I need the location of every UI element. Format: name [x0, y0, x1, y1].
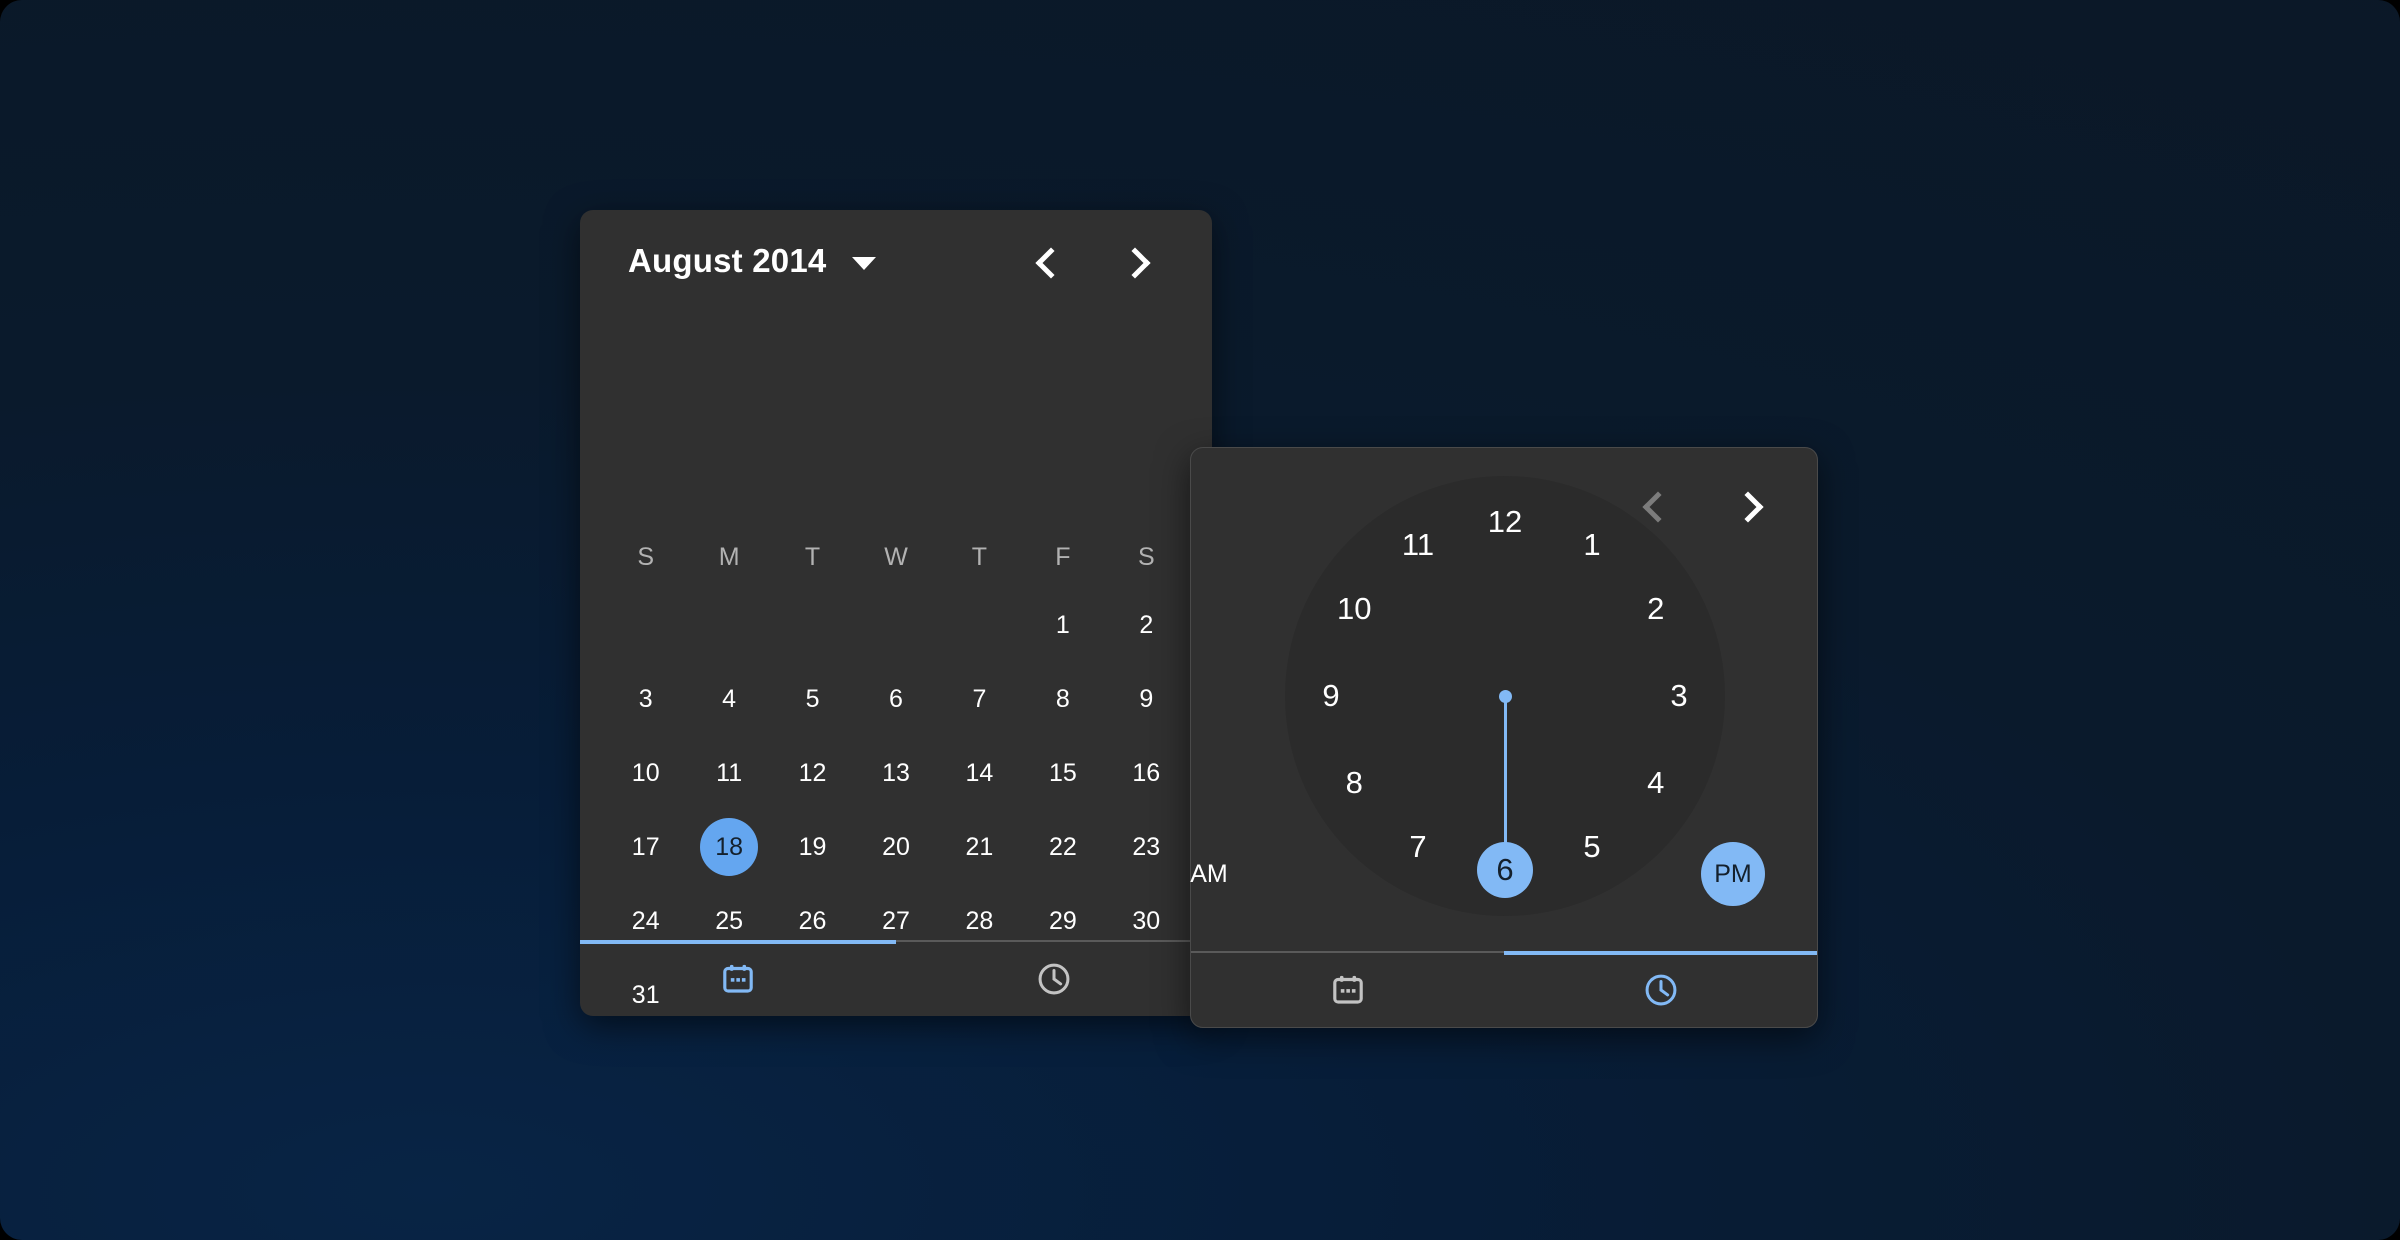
calendar-day-1[interactable]: 1 [1021, 588, 1104, 662]
month-navigation [1030, 244, 1156, 278]
calendar-day-label: 29 [1049, 907, 1077, 936]
meridiem-pm-option[interactable]: PM [1701, 842, 1765, 906]
calendar-day-label: 8 [1056, 685, 1070, 714]
calendar-day-label: 1 [1056, 611, 1070, 640]
calendar-icon [1330, 972, 1366, 1008]
month-year-selector[interactable]: August 2014 [628, 242, 876, 280]
tab-date[interactable] [1191, 953, 1504, 1027]
previous-month-button[interactable] [1030, 244, 1064, 278]
calendar-day-22[interactable]: 22 [1021, 810, 1104, 884]
date-picker-header: August 2014 [580, 210, 1212, 312]
calendar-day-empty [771, 588, 854, 662]
clock-hour-8[interactable]: 8 [1326, 755, 1382, 811]
calendar-day-label: 12 [799, 759, 827, 788]
clock-icon [1642, 971, 1680, 1009]
time-navigation [1637, 488, 1769, 522]
calendar-day-16[interactable]: 16 [1105, 736, 1188, 810]
page-title: August 2014 [628, 242, 826, 280]
clock-hour-5[interactable]: 5 [1564, 819, 1620, 875]
time-picker-tabbar [1191, 951, 1817, 1027]
calendar-week-row: 10111213141516 [604, 736, 1188, 810]
calendar-day-3[interactable]: 3 [604, 662, 687, 736]
calendar-icon [720, 961, 756, 997]
calendar-day-empty [854, 588, 937, 662]
clock-hour-7[interactable]: 7 [1390, 819, 1446, 875]
calendar-day-15[interactable]: 15 [1021, 736, 1104, 810]
calendar-day-label: 18 [715, 833, 743, 862]
calendar-day-label: 5 [806, 685, 820, 714]
calendar-day-label: 4 [722, 685, 736, 714]
previous-time-button[interactable] [1637, 488, 1671, 522]
calendar-day-17[interactable]: 17 [604, 810, 687, 884]
weekday-header-row: S M T W T F S [604, 540, 1188, 574]
calendar-day-label: 17 [632, 833, 660, 862]
clock-hour-10[interactable]: 10 [1326, 581, 1382, 637]
calendar-week-row: 3456789 [604, 662, 1188, 736]
calendar-week-row: 12 [604, 588, 1188, 662]
calendar-day-label: 24 [632, 907, 660, 936]
clock-icon [1035, 960, 1073, 998]
calendar-day-label: 3 [639, 685, 653, 714]
calendar-day-label: 21 [966, 833, 994, 862]
calendar-day-label: 11 [716, 759, 742, 788]
calendar-day-label: 22 [1049, 833, 1077, 862]
tab-time[interactable] [896, 942, 1212, 1016]
calendar-day-11[interactable]: 11 [687, 736, 770, 810]
weekday-label: S [1105, 540, 1188, 574]
app-background: August 2014 S M T W T F S 12345678910111… [0, 0, 2400, 1240]
calendar-day-2[interactable]: 2 [1105, 588, 1188, 662]
calendar-day-label: 2 [1139, 611, 1153, 640]
clock-hour-4[interactable]: 4 [1628, 755, 1684, 811]
calendar-day-4[interactable]: 4 [687, 662, 770, 736]
calendar-day-label: 23 [1132, 833, 1160, 862]
calendar-day-21[interactable]: 21 [938, 810, 1021, 884]
caret-down-icon[interactable] [852, 257, 876, 270]
date-picker-dialog: August 2014 S M T W T F S 12345678910111… [580, 210, 1212, 1016]
weekday-label: T [771, 540, 854, 574]
date-picker-tabbar [580, 940, 1212, 1016]
calendar-day-empty [604, 588, 687, 662]
calendar-day-empty [687, 588, 770, 662]
calendar-day-10[interactable]: 10 [604, 736, 687, 810]
tab-date[interactable] [580, 942, 896, 1016]
clock-hour-11[interactable]: 11 [1390, 517, 1446, 573]
calendar-day-label: 14 [966, 759, 994, 788]
weekday-label: M [687, 540, 770, 574]
calendar-day-20[interactable]: 20 [854, 810, 937, 884]
calendar-day-18[interactable]: 18 [687, 810, 770, 884]
calendar-day-8[interactable]: 8 [1021, 662, 1104, 736]
clock-dial[interactable]: 121234567891011 [1285, 476, 1725, 916]
clock-hour-12[interactable]: 12 [1477, 494, 1533, 550]
clock-hour-9[interactable]: 9 [1303, 668, 1359, 724]
calendar-day-label: 25 [715, 907, 743, 936]
calendar-day-label: 28 [966, 907, 994, 936]
weekday-label: W [854, 540, 937, 574]
calendar-week-row: 17181920212223 [604, 810, 1188, 884]
meridiem-am-option[interactable]: AM [1177, 842, 1241, 906]
calendar-day-12[interactable]: 12 [771, 736, 854, 810]
clock-hour-1[interactable]: 1 [1564, 517, 1620, 573]
calendar-day-empty [938, 588, 1021, 662]
calendar-day-19[interactable]: 19 [771, 810, 854, 884]
clock-center-dot [1499, 690, 1512, 703]
calendar-day-23[interactable]: 23 [1105, 810, 1188, 884]
calendar-day-label: 26 [799, 907, 827, 936]
calendar-day-9[interactable]: 9 [1105, 662, 1188, 736]
calendar-day-label: 13 [882, 759, 910, 788]
clock-hour-3[interactable]: 3 [1651, 668, 1707, 724]
tab-time[interactable] [1504, 953, 1817, 1027]
calendar-day-5[interactable]: 5 [771, 662, 854, 736]
calendar-day-label: 10 [632, 759, 660, 788]
calendar-day-label: 6 [889, 685, 903, 714]
next-time-button[interactable] [1735, 488, 1769, 522]
calendar-day-14[interactable]: 14 [938, 736, 1021, 810]
calendar-day-6[interactable]: 6 [854, 662, 937, 736]
time-picker-dialog: 121234567891011 AM PM [1190, 447, 1818, 1028]
calendar-day-label: 16 [1132, 759, 1160, 788]
calendar-day-label: 9 [1139, 685, 1153, 714]
calendar-day-13[interactable]: 13 [854, 736, 937, 810]
clock-hour-2[interactable]: 2 [1628, 581, 1684, 637]
calendar-day-label: 31 [632, 981, 660, 1010]
calendar-day-label: 30 [1132, 907, 1160, 936]
weekday-label: S [604, 540, 687, 574]
next-month-button[interactable] [1122, 244, 1156, 278]
calendar-day-label: 20 [882, 833, 910, 862]
calendar-day-label: 27 [882, 907, 910, 936]
calendar-day-label: 15 [1049, 759, 1077, 788]
weekday-label: F [1021, 540, 1104, 574]
weekday-label: T [938, 540, 1021, 574]
clock-hour-6[interactable]: 6 [1477, 842, 1533, 898]
calendar-day-label: 7 [972, 685, 986, 714]
calendar-day-label: 19 [799, 833, 827, 862]
calendar-day-7[interactable]: 7 [938, 662, 1021, 736]
